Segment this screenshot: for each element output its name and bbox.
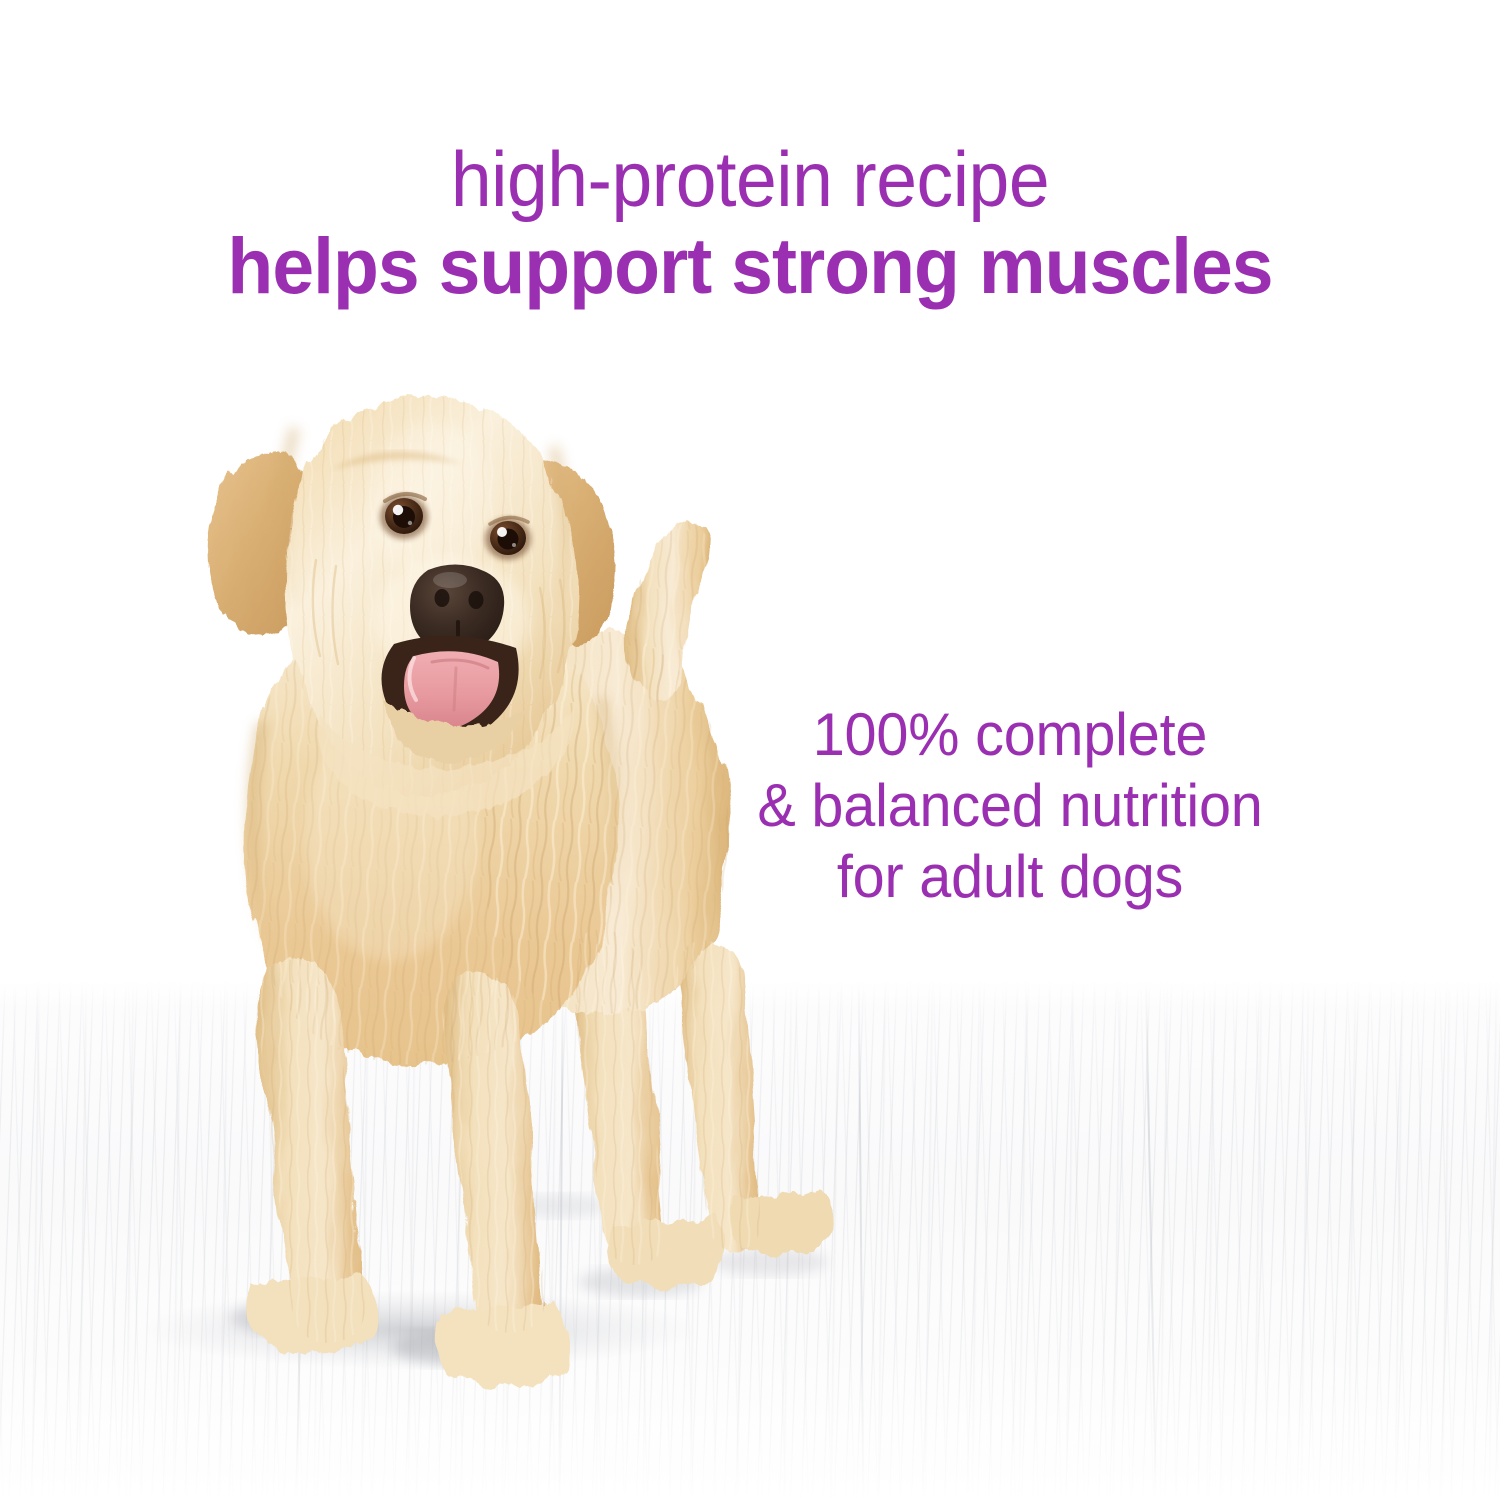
benefit-copy-line-1: 100% complete xyxy=(674,700,1346,771)
headline-line-1: high-protein recipe xyxy=(45,140,1455,218)
promo-canvas: high-protein recipe helps support strong… xyxy=(0,0,1500,1500)
headline-line-2: helps support strong muscles xyxy=(38,226,1463,305)
benefit-copy-line-2: & balanced nutrition xyxy=(674,771,1346,842)
benefit-copy: 100% complete & balanced nutrition for a… xyxy=(660,700,1360,912)
headline: high-protein recipe helps support strong… xyxy=(0,140,1500,305)
benefit-copy-line-3: for adult dogs xyxy=(674,842,1346,913)
